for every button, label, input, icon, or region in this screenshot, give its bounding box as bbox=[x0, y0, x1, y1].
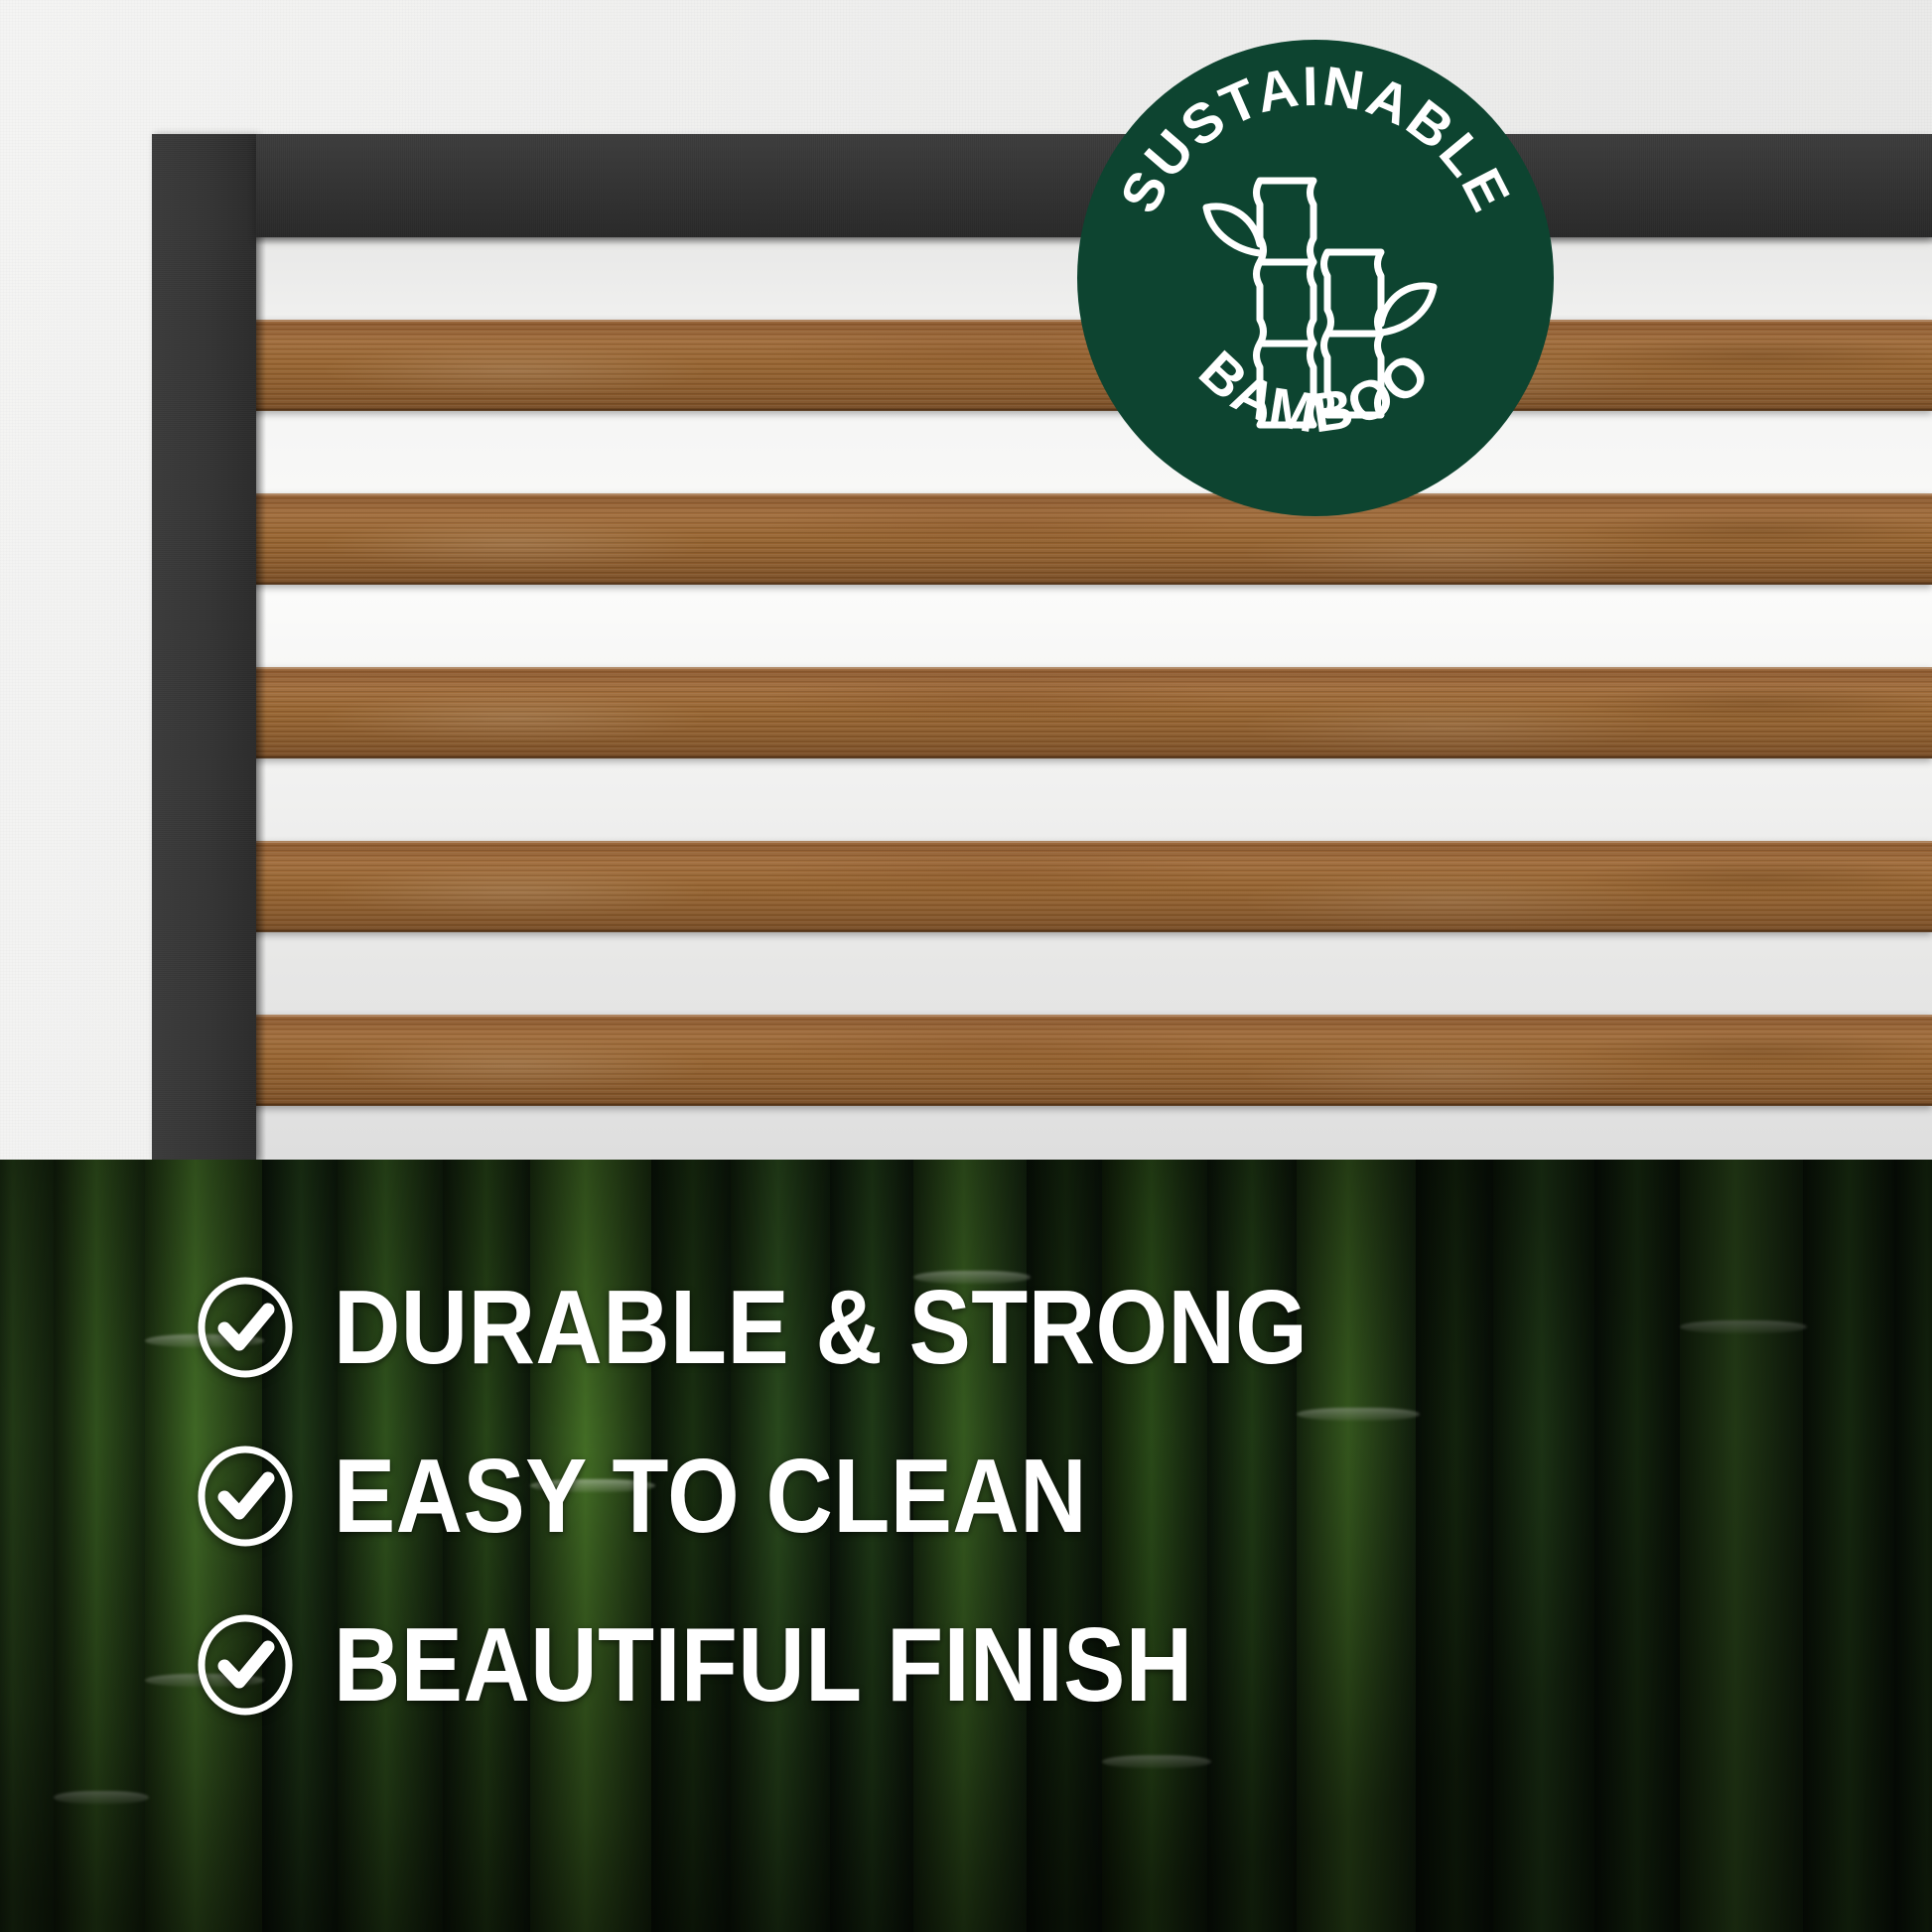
benefits-panel: DURABLE & STRONG EASY TO CLEAN bbox=[0, 1160, 1932, 1932]
frame-post-left bbox=[152, 134, 256, 1160]
product-infographic: SUSTAINABLE BAMBOO bbox=[0, 0, 1932, 1932]
bamboo-slat-screen bbox=[204, 185, 1932, 1160]
check-circle-icon bbox=[195, 1277, 296, 1378]
bamboo-slat bbox=[204, 1015, 1932, 1106]
bamboo-slat bbox=[204, 841, 1932, 932]
benefit-label: DURABLE & STRONG bbox=[334, 1275, 1308, 1380]
benefit-label: BEAUTIFUL FINISH bbox=[334, 1612, 1193, 1718]
bamboo-slat bbox=[204, 493, 1932, 585]
benefit-list: DURABLE & STRONG EASY TO CLEAN bbox=[195, 1243, 1783, 1749]
sustainable-bamboo-badge: SUSTAINABLE BAMBOO bbox=[1077, 40, 1554, 516]
check-circle-icon bbox=[195, 1446, 296, 1547]
benefit-item-easy-to-clean: EASY TO CLEAN bbox=[195, 1412, 1783, 1581]
bamboo-slat bbox=[204, 667, 1932, 759]
benefit-item-durable-strong: DURABLE & STRONG bbox=[195, 1243, 1783, 1412]
check-circle-icon bbox=[195, 1614, 296, 1716]
bamboo-slat bbox=[204, 320, 1932, 411]
product-photo-panel: SUSTAINABLE BAMBOO bbox=[0, 0, 1932, 1160]
benefit-label: EASY TO CLEAN bbox=[334, 1444, 1087, 1549]
frame-inner-shadow-left bbox=[256, 237, 266, 1160]
benefit-item-beautiful-finish: BEAUTIFUL FINISH bbox=[195, 1581, 1783, 1749]
